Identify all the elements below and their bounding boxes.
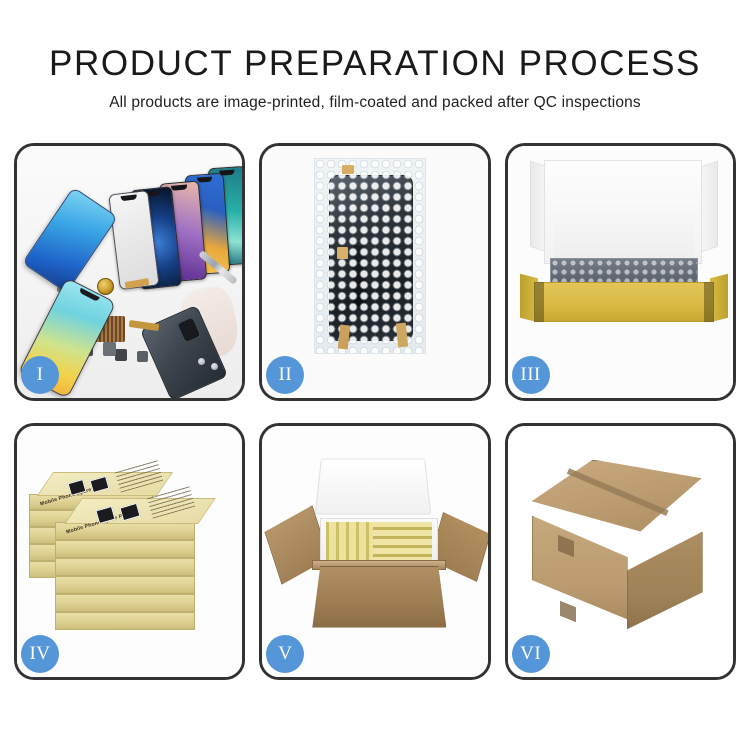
tape-icon: [342, 165, 354, 174]
header: PRODUCT PREPARATION PROCESS All products…: [0, 0, 750, 112]
notch-icon: [79, 288, 100, 302]
step-number-badge: II: [266, 356, 304, 394]
stacked-box: [55, 540, 195, 558]
process-step-2: II: [259, 143, 490, 401]
carton-side-face-icon: [627, 532, 703, 630]
process-step-4: Mobile Phone Spare Parts Mobile Phone Sp…: [14, 423, 245, 681]
small-part-icon: [115, 349, 127, 361]
carton-tab-icon: [560, 600, 576, 621]
tape-icon: [337, 247, 348, 259]
carton-top-face-icon: [532, 460, 702, 532]
styrofoam-lid-icon: [315, 458, 432, 514]
small-part-icon: [137, 351, 148, 362]
carton-front-face-icon: [532, 516, 628, 620]
notch-icon: [171, 184, 187, 190]
stacked-box: [55, 576, 195, 594]
stacked-box: [55, 594, 195, 612]
box-tab-icon: [704, 282, 714, 322]
box-tab-icon: [534, 282, 544, 322]
bubble-wrap-bag-icon: [314, 158, 426, 354]
speaker-coil-icon: [97, 278, 114, 295]
screws-icon: [198, 358, 224, 370]
stacked-box: [55, 558, 195, 576]
carton-body-icon: [312, 566, 446, 628]
step-number-badge: VI: [512, 635, 550, 673]
step-number-badge: IV: [21, 635, 59, 673]
page-title: PRODUCT PREPARATION PROCESS: [0, 44, 750, 84]
page-subtitle: All products are image-printed, film-coa…: [0, 94, 750, 112]
small-part-icon: [103, 342, 116, 356]
box-base-icon: [534, 282, 714, 322]
box-interior-icon: [554, 198, 694, 264]
process-step-5: V: [259, 423, 490, 681]
box-stack: Mobile Phone Spare Parts Mobile Phone Sp…: [23, 448, 242, 638]
stacked-box: [55, 612, 195, 630]
process-step-grid: I II: [14, 143, 736, 680]
process-step-1: I: [14, 143, 245, 401]
notch-icon: [121, 194, 137, 201]
product-preparation-infographic: PRODUCT PREPARATION PROCESS All products…: [0, 0, 750, 750]
step-number-badge: I: [21, 356, 59, 394]
process-step-6: VI: [505, 423, 736, 681]
process-step-3: III: [505, 143, 736, 401]
notch-icon: [196, 177, 212, 183]
step-number-badge: III: [512, 356, 550, 394]
bubble-texture: [315, 159, 425, 353]
